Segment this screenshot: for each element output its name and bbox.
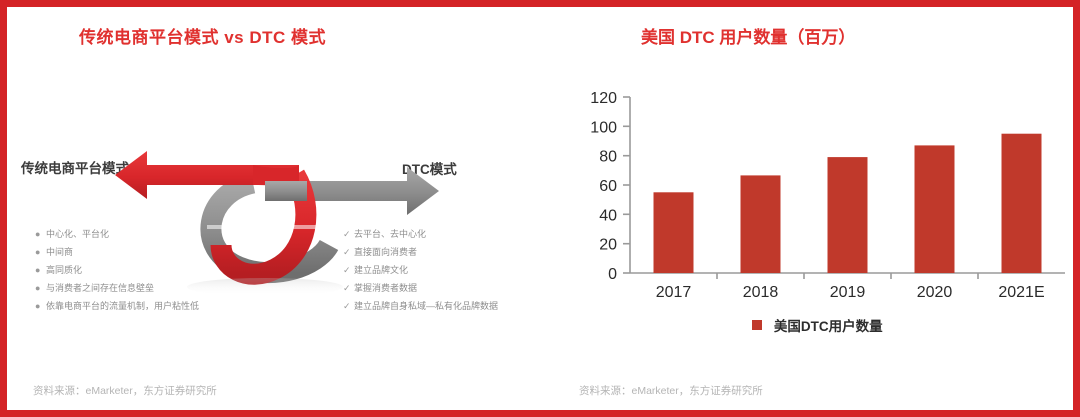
bullet-dot-icon: ●: [35, 243, 46, 261]
x-tick-label: 2019: [830, 284, 866, 299]
list-item: ✓直接面向消费者: [343, 243, 498, 261]
y-tick-label: 60: [599, 178, 617, 195]
x-tick-label: 2021E: [998, 284, 1044, 299]
legend-item: 美国DTC用户数量: [752, 315, 882, 335]
y-axis-ticks: [623, 97, 630, 273]
slide-frame: 传统电商平台模式 vs DTC 模式 传统电商平台模式 DTC模式: [0, 0, 1080, 417]
dtc-model-bullets: ✓去平台、去中心化 ✓直接面向消费者 ✓建立品牌文化 ✓掌握消费者数据 ✓建立品…: [343, 225, 498, 315]
check-icon: ✓: [343, 261, 354, 279]
bar-2020: [915, 145, 955, 273]
left-source-note: 资料来源：eMarketer，东方证券研究所: [33, 383, 217, 398]
bar-2021E: [1002, 134, 1042, 273]
list-item: ✓建立品牌自身私域—私有化品牌数据: [343, 297, 498, 315]
bar-chart: 0 20 40 60 80 100 120: [555, 69, 1080, 299]
chart-title: 美国 DTC 用户数量（百万）: [641, 23, 855, 48]
right-panel: 美国 DTC 用户数量（百万） 0 20 40: [555, 7, 1080, 410]
bar-series: [654, 134, 1042, 273]
bar-2017: [654, 192, 694, 273]
highlight-band: [207, 225, 347, 229]
list-item: ●高同质化: [35, 261, 199, 279]
bullet-dot-icon: ●: [35, 261, 46, 279]
diagram-reflection: [187, 278, 343, 296]
list-item: ●与消费者之间存在信息壁垒: [35, 279, 199, 297]
left-panel-title: 传统电商平台模式 vs DTC 模式: [79, 23, 326, 48]
list-item: ●依靠电商平台的流量机制，用户粘性低: [35, 297, 199, 315]
y-tick-label: 80: [599, 149, 617, 166]
y-tick-label: 40: [599, 207, 617, 224]
bar-2018: [741, 175, 781, 273]
list-item: ✓掌握消费者数据: [343, 279, 498, 297]
x-tick-label: 2017: [656, 284, 692, 299]
check-icon: ✓: [343, 225, 354, 243]
y-tick-labels: 0 20 40 60 80 100 120: [590, 90, 617, 283]
list-item: ✓建立品牌文化: [343, 261, 498, 279]
list-item: ✓去平台、去中心化: [343, 225, 498, 243]
chart-legend: 美国DTC用户数量: [555, 315, 1080, 335]
legend-label: 美国DTC用户数量: [774, 315, 883, 335]
gray-arrow-overlap: [265, 181, 307, 201]
slide-inner: 传统电商平台模式 vs DTC 模式 传统电商平台模式 DTC模式: [7, 7, 1073, 410]
legend-swatch: [752, 320, 762, 330]
x-tick-label: 2018: [743, 284, 779, 299]
y-tick-label: 20: [599, 237, 617, 254]
bullet-dot-icon: ●: [35, 297, 46, 315]
bullet-dot-icon: ●: [35, 225, 46, 243]
x-tick-label: 2020: [917, 284, 953, 299]
y-tick-label: 120: [590, 90, 617, 107]
bullet-dot-icon: ●: [35, 279, 46, 297]
list-item: ●中间商: [35, 243, 199, 261]
check-icon: ✓: [343, 243, 354, 261]
check-icon: ✓: [343, 297, 354, 315]
left-panel: 传统电商平台模式 vs DTC 模式 传统电商平台模式 DTC模式: [7, 7, 555, 410]
list-item: ●中心化、平台化: [35, 225, 199, 243]
bar-2019: [828, 157, 868, 273]
y-tick-label: 100: [590, 119, 617, 136]
x-axis-ticks: [717, 273, 978, 279]
x-tick-labels: 2017 2018 2019 2020 2021E: [656, 284, 1045, 299]
check-icon: ✓: [343, 279, 354, 297]
right-source-note: 资料来源：eMarketer，东方证券研究所: [579, 383, 763, 398]
traditional-model-bullets: ●中心化、平台化 ●中间商 ●高同质化 ●与消费者之间存在信息壁垒 ●依靠电商平…: [35, 225, 199, 315]
y-tick-label: 0: [608, 266, 617, 283]
